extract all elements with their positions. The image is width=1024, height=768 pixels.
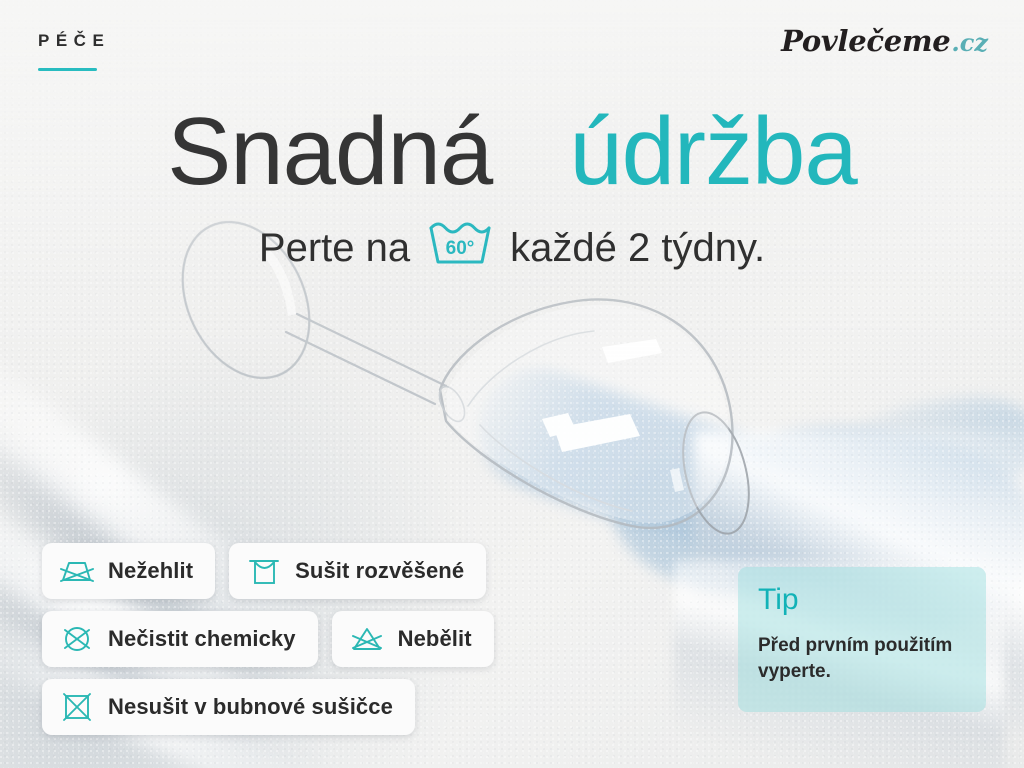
- care-chip-row: Nežehlit Sušit rozvěšené: [42, 543, 602, 599]
- page-title-part1: Snadná: [167, 98, 492, 205]
- care-chip-label: Nesušit v bubnové sušičce: [108, 694, 393, 720]
- page-title-part2: údržba: [569, 98, 857, 205]
- care-chip-do-not-dry-clean[interactable]: Nečistit chemicky: [42, 611, 318, 667]
- care-symbols-list: Nežehlit Sušit rozvěšené: [42, 543, 602, 735]
- brand-logo[interactable]: Povlečeme .cz: [781, 24, 988, 58]
- subtitle-text-after: každé 2 týdny.: [510, 226, 765, 271]
- care-chip-label: Nebělit: [398, 626, 472, 652]
- care-chip-do-not-iron[interactable]: Nežehlit: [42, 543, 215, 599]
- subtitle-text-before: Perte na: [259, 226, 410, 271]
- tip-callout-box: Tip Před prvním použitím vyperte.: [738, 567, 986, 712]
- care-chip-label: Nečistit chemicky: [108, 626, 296, 652]
- tip-body: Před prvním použitím vyperte.: [758, 633, 958, 684]
- do-not-bleach-icon: [350, 622, 384, 656]
- care-instructions-banner: PÉČE Povlečeme .cz Snadná údržba Perte n…: [0, 0, 1024, 768]
- subtitle: Perte na 60° každé 2 týdny.: [0, 218, 1024, 278]
- page-title: Snadná údržba: [0, 103, 1024, 201]
- do-not-iron-icon: [60, 554, 94, 588]
- care-chip-label: Nežehlit: [108, 558, 193, 584]
- care-chip-label: Sušit rozvěšené: [295, 558, 464, 584]
- wash-icon-temperature: 60°: [446, 238, 475, 259]
- eyebrow-underline: [38, 68, 97, 71]
- do-not-dry-clean-icon: [60, 622, 94, 656]
- care-chip-do-not-bleach[interactable]: Nebělit: [332, 611, 494, 667]
- care-chip-row: Nesušit v bubnové sušičce: [42, 679, 602, 735]
- eyebrow-block: PÉČE: [38, 32, 110, 71]
- care-chip-drip-dry[interactable]: Sušit rozvěšené: [229, 543, 486, 599]
- brand-tld: .cz: [951, 28, 988, 57]
- care-chip-do-not-tumble-dry[interactable]: Nesušit v bubnové sušičce: [42, 679, 415, 735]
- care-chip-row: Nečistit chemicky Nebělit: [42, 611, 602, 667]
- tip-title: Tip: [758, 585, 966, 615]
- wash-60-degrees-icon: 60°: [423, 218, 497, 278]
- drip-dry-icon: [247, 554, 281, 588]
- do-not-tumble-dry-icon: [60, 690, 94, 724]
- eyebrow-label: PÉČE: [38, 32, 110, 49]
- brand-name: Povlečeme: [781, 24, 950, 58]
